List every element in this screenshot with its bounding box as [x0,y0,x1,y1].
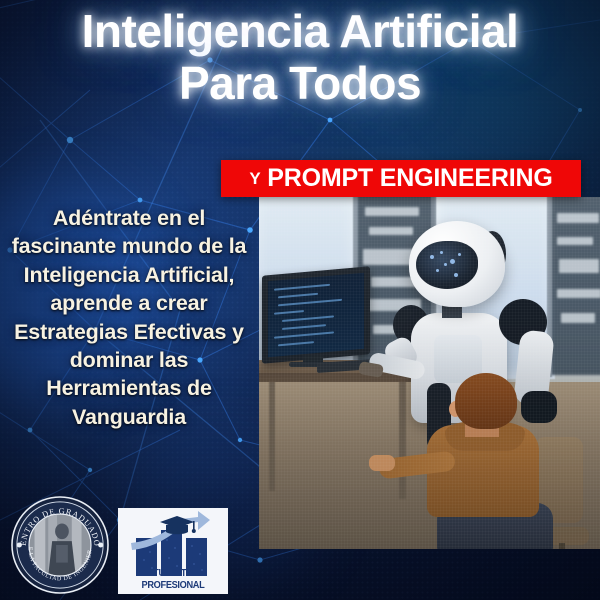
exito-logo-label: TU EXITO PROFESIONAL [125,567,222,591]
tu-exito-profesional-logo: TU EXITO PROFESIONAL [118,508,228,594]
centro-de-graduados-seal-logo: CENTRO DE GRADUADOS DE LA FACULTAD DE IN… [11,496,109,594]
poster-description: Adéntrate en el fascinante mundo de la I… [4,204,254,431]
robot-and-boy-photo [259,197,600,549]
banner-text: PROMPT ENGINEERING [267,164,552,193]
poster-headline: Inteligencia Artificial Para Todos [0,8,600,108]
headline-line-2: Para Todos [0,60,600,108]
prompt-engineering-banner: Y PROMPT ENGINEERING [221,160,581,197]
banner-prefix: Y [249,169,261,189]
headline-line-1: Inteligencia Artificial [0,8,600,56]
ai-course-poster: Inteligencia Artificial Para Todos [0,0,600,600]
photo-grain [259,197,600,549]
